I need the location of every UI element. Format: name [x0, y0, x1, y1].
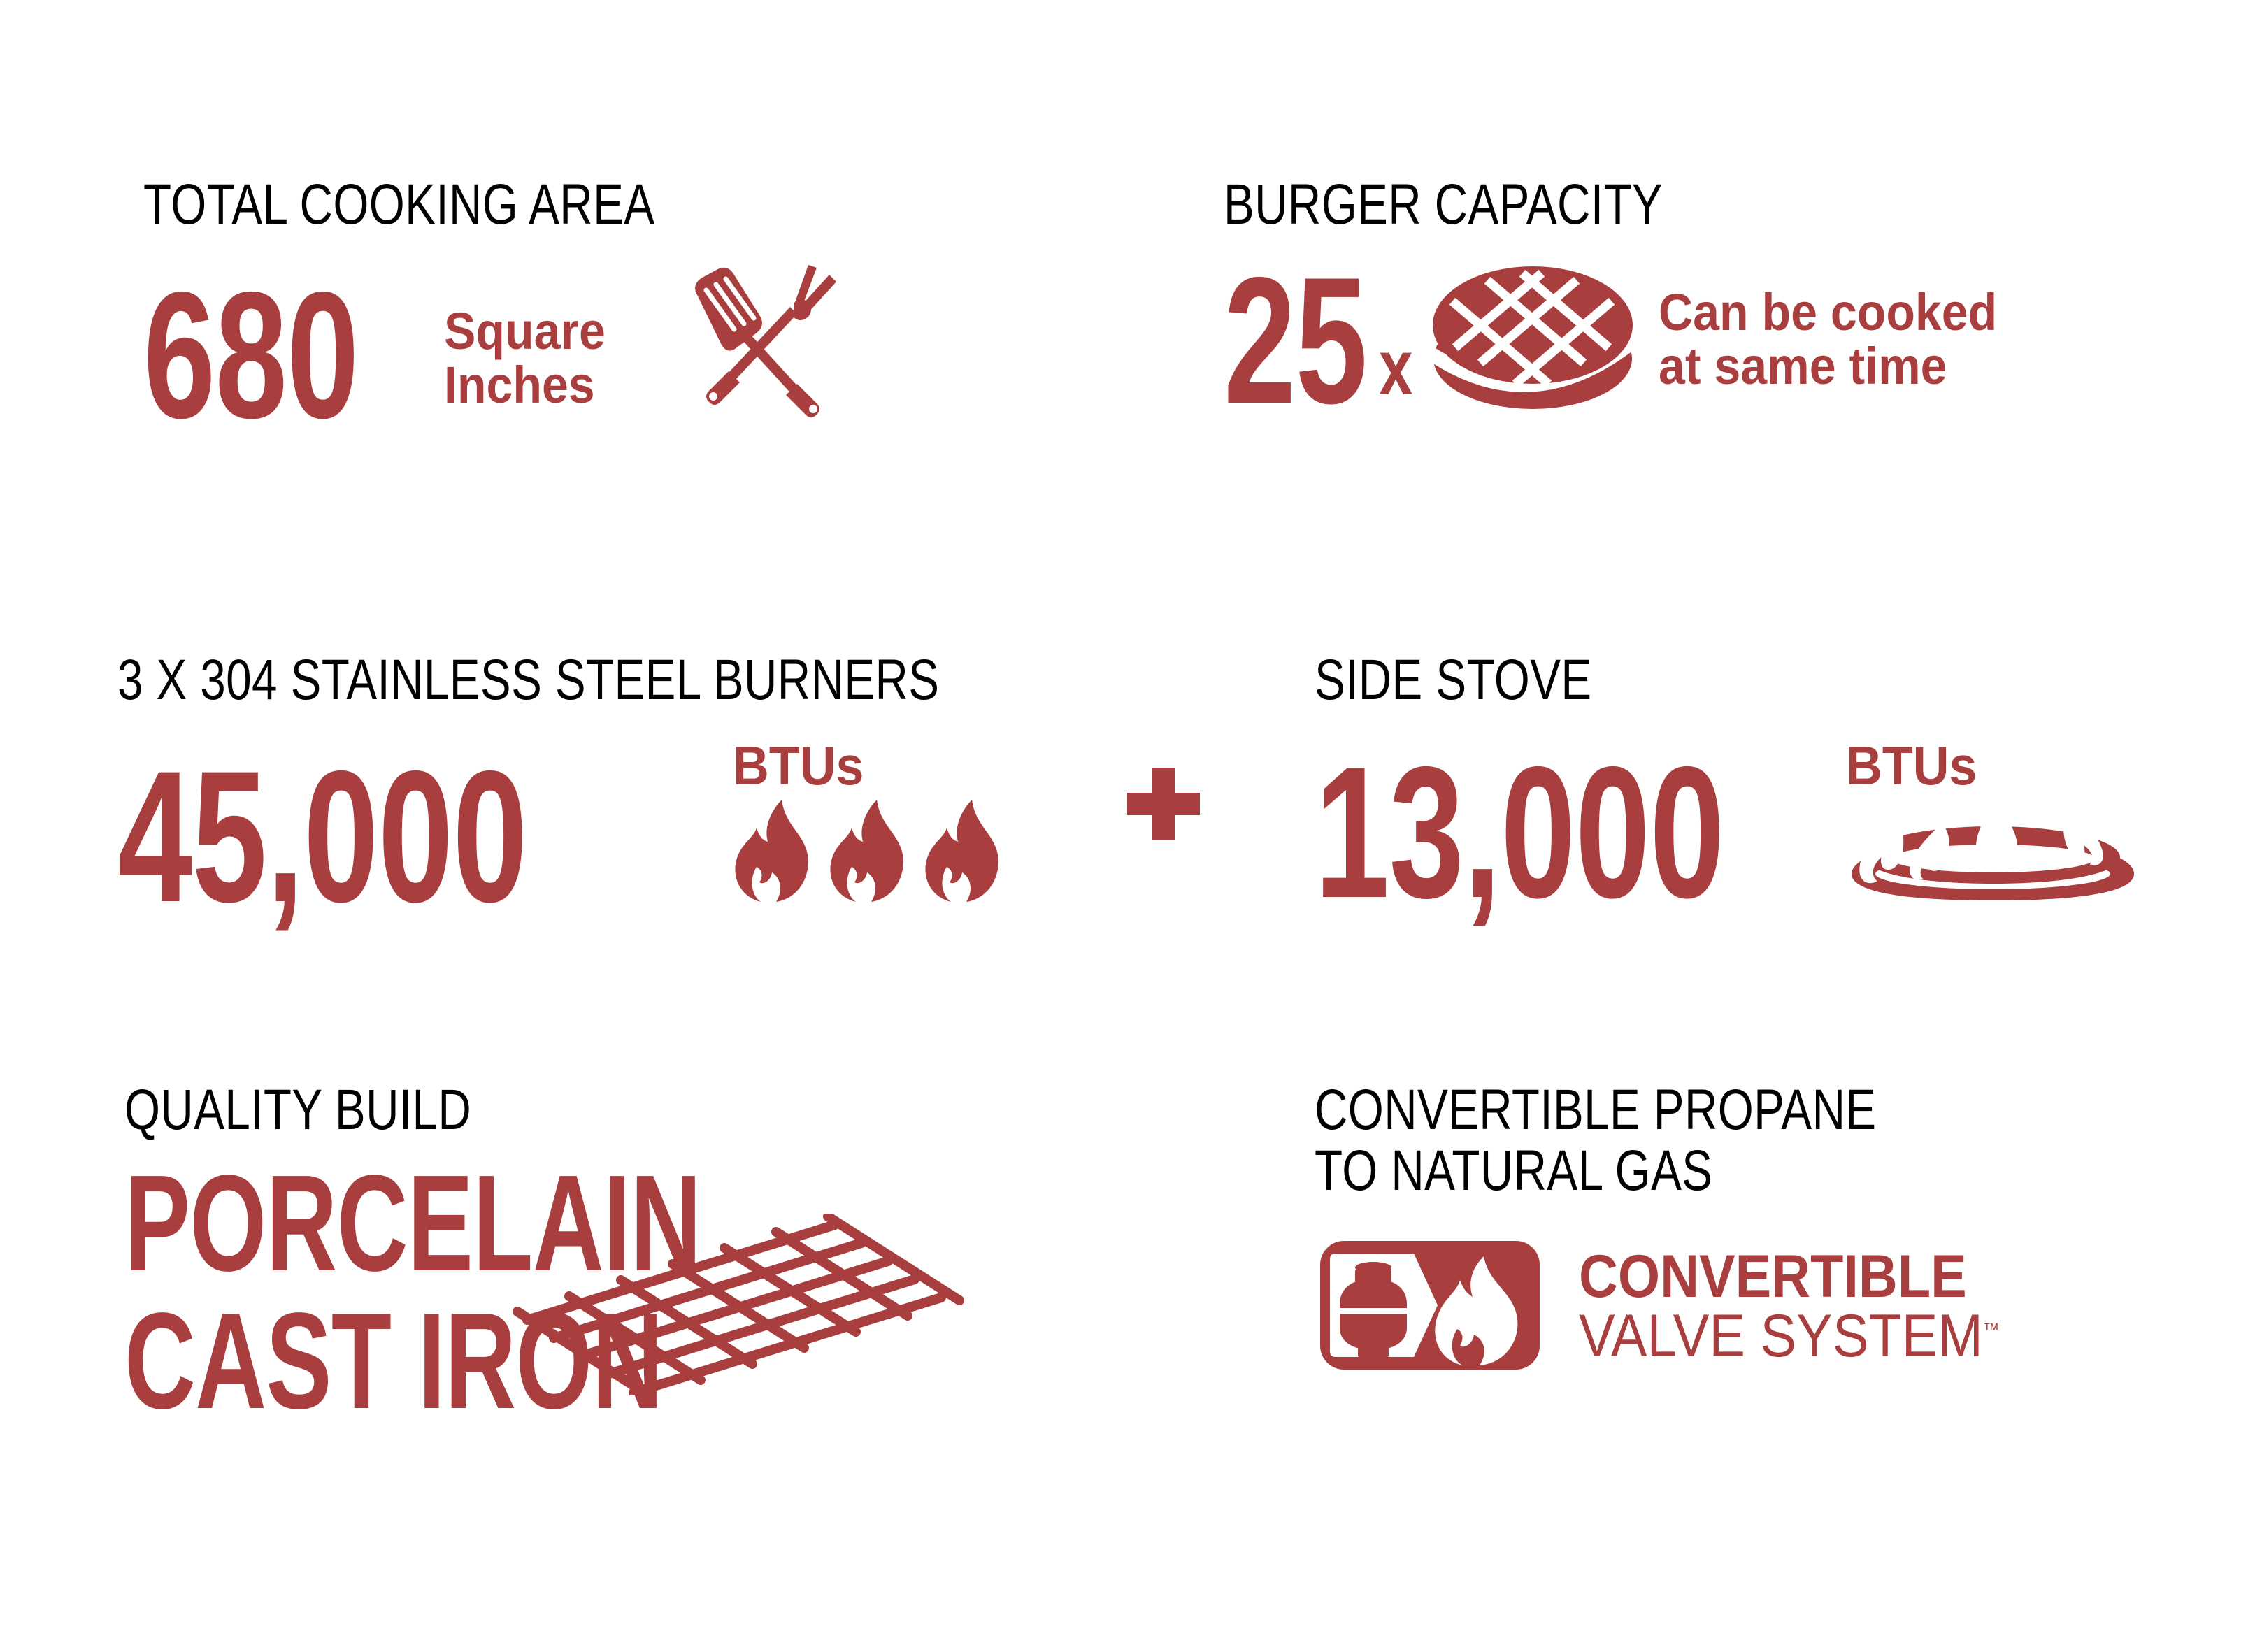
feature-convertible-gas: CONVERTIBLE PROPANE TO NATURAL GAS — [1315, 1080, 2084, 1379]
quality-build-value: PORCELAIN CAST IRON — [124, 1170, 474, 1415]
multiplier-symbol: x — [1379, 336, 1410, 399]
note-line-2: at same time — [1659, 340, 1997, 394]
feature-stainless-steel-burners: 3 x 304 STAINLESS STEEL BURNERS 45,000 B… — [117, 650, 1145, 910]
spatula-and-fork-icon — [664, 261, 846, 425]
burger-capacity-value: 25 — [1224, 270, 1336, 410]
feature-quality-build: QUALITY BUILD PORCELAIN CAST IRON — [124, 1080, 978, 1415]
heading-line-2: TO NATURAL GAS — [1315, 1141, 2042, 1202]
feature-heading: TOTAL COOKING AREA — [143, 175, 706, 236]
feature-total-cooking-area: TOTAL COOKING AREA 680 Square Inches — [143, 175, 846, 425]
feature-heading: BURGER CAPACITY — [1224, 175, 1866, 236]
flame-icon — [828, 798, 912, 907]
cvs-line-2: VALVE SYSTEM™ — [1579, 1306, 1999, 1366]
side-stove-btu-value: 13,000 — [1315, 759, 1697, 905]
flame-icon — [923, 798, 1007, 907]
feature-heading: SIDE STOVE — [1315, 650, 1975, 711]
feature-heading: CONVERTIBLE PROPANE TO NATURAL GAS — [1315, 1080, 2042, 1202]
feature-burger-capacity: BURGER CAPACITY 25 x — [1224, 175, 2026, 410]
cvs-wordmark: CONVERTIBLE VALVE SYSTEM™ — [1579, 1248, 2046, 1366]
plus-operator-icon — [1127, 768, 1200, 840]
burner-btu-unit: BTUs — [733, 738, 985, 794]
feature-side-stove: SIDE STOVE 13,000 BTUs — [1315, 650, 2140, 905]
side-stove-unit-and-icon: BTUs — [1846, 738, 2140, 904]
feature-heading: 3 x 304 STAINLESS STEEL BURNERS — [117, 650, 939, 711]
burner-btu-value: 45,000 — [117, 763, 561, 910]
cooking-area-unit: Square Inches — [444, 305, 606, 412]
cooking-area-value: 680 — [143, 285, 360, 425]
trademark-symbol: ™ — [1983, 1319, 1999, 1339]
infographic-canvas: TOTAL COOKING AREA 680 Square Inches — [0, 0, 2255, 1652]
cvs-line-2-text: VALVE SYSTEM — [1579, 1302, 1983, 1370]
convertible-valve-system-logo: CONVERTIBLE VALVE SYSTEM™ — [1315, 1235, 2084, 1379]
side-burner-flame-ring-icon — [1846, 796, 2140, 904]
burger-patty-icon — [1428, 261, 1638, 415]
note-line-1: Can be cooked — [1659, 286, 1997, 340]
burger-note: Can be cooked at same time — [1659, 286, 1997, 394]
material-line-1: PORCELAIN — [124, 1170, 376, 1277]
unit-line-1: Square — [444, 305, 606, 359]
feature-heading: QUALITY BUILD — [124, 1080, 807, 1141]
cvs-line-1: CONVERTIBLE — [1579, 1248, 1999, 1306]
material-line-2: CAST IRON — [124, 1308, 376, 1415]
cvs-badge-icon — [1315, 1235, 1545, 1379]
flame-icon — [733, 798, 817, 907]
heading-line-1: CONVERTIBLE PROPANE — [1315, 1080, 2042, 1141]
flame-icon-group — [733, 798, 1007, 907]
burner-unit-and-flames: BTUs — [733, 738, 1007, 907]
unit-line-2: Inches — [444, 359, 606, 412]
side-stove-btu-unit: BTUs — [1846, 738, 2116, 794]
